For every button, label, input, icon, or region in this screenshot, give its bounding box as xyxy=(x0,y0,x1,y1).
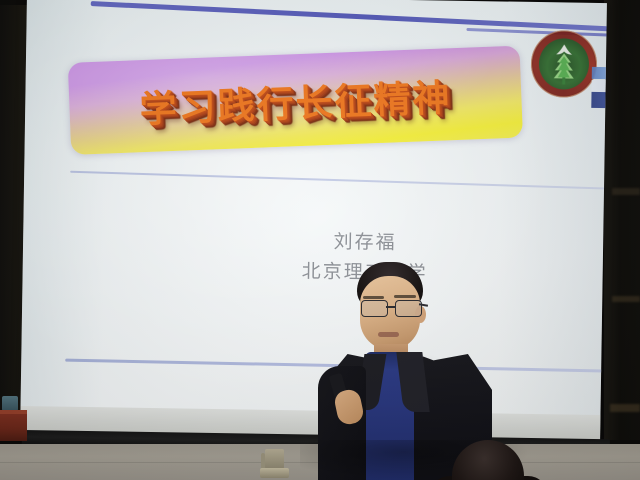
flag-band-bottom xyxy=(591,92,607,108)
projection-screen: 学习践行长征精神 刘存福 北京理工大学 xyxy=(20,0,607,441)
bracket-base xyxy=(260,468,289,478)
presenter-mouth xyxy=(378,332,399,337)
emblem-tree-icon xyxy=(549,42,580,86)
flag-band-top xyxy=(592,67,607,79)
wooden-podium-left xyxy=(0,414,27,441)
eyeglass-lens-left xyxy=(361,300,388,317)
presenter-name: 刘存福 xyxy=(255,226,475,259)
flag-graphic xyxy=(591,64,607,109)
presenter-brow-left xyxy=(363,296,384,299)
flag-band-mid xyxy=(592,80,607,92)
screenshot-root: 学习践行长征精神 刘存福 北京理工大学 xyxy=(0,0,640,480)
room-shelf-3 xyxy=(610,404,640,412)
presenter-brow-right xyxy=(394,295,416,298)
room-shelf-2 xyxy=(612,296,640,302)
eyeglasses-icon xyxy=(357,300,425,316)
slide-title: 学习践行长征精神 xyxy=(68,46,523,155)
bracket-plate xyxy=(265,449,284,469)
podium-object xyxy=(2,396,18,411)
eyeglass-lens-right xyxy=(395,300,422,317)
room-dark-right xyxy=(604,0,640,440)
wall-mount-bracket xyxy=(259,449,289,479)
room-shelf-1 xyxy=(612,188,640,195)
slide-title-plaque: 学习践行长征精神 xyxy=(68,46,523,155)
